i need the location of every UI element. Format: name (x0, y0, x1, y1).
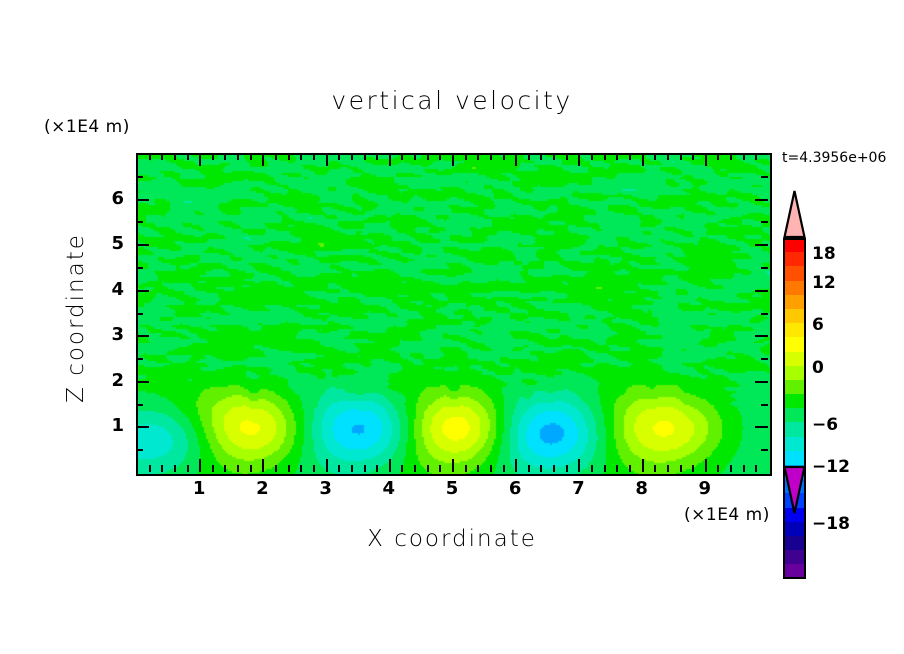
x-axis-minor-tick-top (338, 153, 340, 160)
x-axis-tick-label: 4 (369, 478, 409, 499)
x-axis-minor-tick-top (187, 153, 189, 160)
x-axis-tick-label: 7 (558, 478, 598, 499)
x-axis-minor-tick-top (351, 153, 353, 160)
colorbar-band (783, 281, 806, 295)
x-axis-minor-tick (313, 465, 315, 472)
x-axis-minor-tick (591, 465, 593, 472)
y-axis-units-label: (×1E4 m) (44, 117, 130, 137)
colorbar-band (783, 422, 806, 436)
x-axis-major-tick-top (326, 153, 328, 166)
y-axis-minor-tick-right (761, 176, 768, 178)
x-axis-minor-tick-top (224, 153, 226, 160)
x-axis-minor-tick (149, 465, 151, 472)
x-axis-minor-tick-top (364, 153, 366, 160)
x-axis-minor-tick (187, 465, 189, 472)
x-axis-tick-label: 9 (685, 478, 725, 499)
colorbar-band (783, 380, 806, 394)
y-axis-major-tick (136, 381, 149, 383)
x-axis-minor-tick-top (161, 153, 163, 160)
x-axis-minor-tick-top (288, 153, 290, 160)
colorbar-band (783, 252, 806, 266)
x-axis-minor-tick (667, 465, 669, 472)
colorbar-tick-label: −6 (812, 415, 838, 435)
x-axis-minor-tick (717, 465, 719, 472)
x-axis-minor-tick (730, 465, 732, 472)
x-axis-minor-tick-top (477, 153, 479, 160)
x-axis-major-tick (642, 459, 644, 472)
y-axis-minor-tick-right (761, 449, 768, 451)
x-axis-minor-tick (528, 465, 530, 472)
y-axis-major-tick-right (755, 381, 768, 383)
x-axis-major-tick (389, 459, 391, 472)
y-axis-minor-tick (136, 176, 143, 178)
y-axis-minor-tick (136, 221, 143, 223)
colorbar-top-arrow-cap (783, 189, 806, 239)
contour-plot-area (136, 153, 772, 476)
x-axis-minor-tick-top (414, 153, 416, 160)
colorbar-band (783, 323, 806, 337)
y-axis-tick-label: 5 (84, 233, 124, 254)
x-axis-minor-tick-top (250, 153, 252, 160)
x-axis-minor-tick-top (616, 153, 618, 160)
y-axis-minor-tick-right (761, 358, 768, 360)
colorbar-band (783, 451, 806, 465)
y-axis-minor-tick-right (761, 267, 768, 269)
y-axis-tick-label: 1 (84, 415, 124, 436)
colorbar-band (783, 266, 806, 280)
x-axis-minor-tick (161, 465, 163, 472)
y-axis-minor-tick-right (761, 313, 768, 315)
y-axis-major-tick-right (755, 335, 768, 337)
x-axis-minor-tick-top (313, 153, 315, 160)
x-axis-tick-label: 6 (495, 478, 535, 499)
x-axis-major-tick-top (199, 153, 201, 166)
x-axis-major-tick-top (515, 153, 517, 166)
colorbar-band (783, 337, 806, 351)
x-axis-minor-tick (427, 465, 429, 472)
simulation-timestamp: t=4.3956e+06 (782, 150, 886, 166)
x-axis-major-tick-top (452, 153, 454, 166)
x-axis-minor-tick-top (680, 153, 682, 160)
x-axis-minor-tick (364, 465, 366, 472)
x-axis-tick-label: 8 (622, 478, 662, 499)
x-axis-minor-tick-top (604, 153, 606, 160)
x-axis-minor-tick-top (237, 153, 239, 160)
x-axis-major-tick-top (705, 153, 707, 166)
x-axis-units-label: (×1E4 m) (684, 505, 770, 525)
x-axis-major-tick-top (578, 153, 580, 166)
x-axis-minor-tick (338, 465, 340, 472)
colorbar-band (783, 309, 806, 323)
colorbar-band (783, 522, 806, 536)
colorbar-band (783, 437, 806, 451)
x-axis-major-tick (578, 459, 580, 472)
x-axis-minor-tick-top (553, 153, 555, 160)
colorbar-band (783, 394, 806, 408)
y-axis-major-tick (136, 199, 149, 201)
x-axis-minor-tick-top (692, 153, 694, 160)
colorbar-tick-label: −12 (812, 457, 850, 477)
x-axis-major-tick (705, 459, 707, 472)
x-axis-minor-tick-top (717, 153, 719, 160)
x-axis-minor-tick (439, 465, 441, 472)
colorbar-band (783, 366, 806, 380)
x-axis-minor-tick-top (275, 153, 277, 160)
x-axis-minor-tick (250, 465, 252, 472)
x-axis-minor-tick-top (730, 153, 732, 160)
x-axis-minor-tick (743, 465, 745, 472)
x-axis-minor-tick (237, 465, 239, 472)
x-axis-major-tick (199, 459, 201, 472)
x-axis-minor-tick (553, 465, 555, 472)
colorbar-band (783, 238, 806, 252)
colorbar-band (783, 550, 806, 564)
x-axis-minor-tick (300, 465, 302, 472)
colorbar-tick-label: 0 (812, 358, 824, 378)
y-axis-major-tick (136, 335, 149, 337)
x-axis-minor-tick (680, 465, 682, 472)
x-axis-minor-tick-top (528, 153, 530, 160)
colorbar (783, 238, 806, 579)
x-axis-major-tick-top (642, 153, 644, 166)
x-axis-minor-tick (503, 465, 505, 472)
x-axis-minor-tick-top (755, 153, 757, 160)
colorbar-band (783, 564, 806, 578)
x-axis-minor-tick-top (540, 153, 542, 160)
y-axis-major-tick-right (755, 199, 768, 201)
colorbar-tick-label: 18 (812, 244, 836, 264)
y-axis-major-tick (136, 244, 149, 246)
x-axis-tick-label: 3 (306, 478, 346, 499)
y-axis-tick-label: 3 (84, 324, 124, 345)
x-axis-minor-tick-top (300, 153, 302, 160)
x-axis-minor-tick (224, 465, 226, 472)
x-axis-minor-tick (401, 465, 403, 472)
y-axis-major-tick (136, 426, 149, 428)
x-axis-minor-tick-top (629, 153, 631, 160)
colorbar-tick-label: 12 (812, 273, 836, 293)
y-axis-tick-label: 2 (84, 370, 124, 391)
x-axis-minor-tick (477, 465, 479, 472)
y-axis-major-tick-right (755, 244, 768, 246)
y-axis-major-tick (136, 290, 149, 292)
x-axis-minor-tick (376, 465, 378, 472)
x-axis-tick-label: 5 (432, 478, 472, 499)
y-axis-minor-tick-right (761, 404, 768, 406)
x-axis-minor-tick-top (149, 153, 151, 160)
x-axis-minor-tick-top (439, 153, 441, 160)
y-axis-minor-tick (136, 267, 143, 269)
x-axis-minor-tick (755, 465, 757, 472)
y-axis-tick-label: 4 (84, 279, 124, 300)
colorbar-band (783, 352, 806, 366)
x-axis-minor-tick-top (174, 153, 176, 160)
y-axis-minor-tick (136, 313, 143, 315)
x-axis-minor-tick-top (427, 153, 429, 160)
x-axis-minor-tick-top (743, 153, 745, 160)
x-axis-minor-tick-top (591, 153, 593, 160)
x-axis-minor-tick (212, 465, 214, 472)
x-axis-minor-tick-top (465, 153, 467, 160)
x-axis-major-tick (452, 459, 454, 472)
x-axis-minor-tick (616, 465, 618, 472)
x-axis-minor-tick (540, 465, 542, 472)
colorbar-band (783, 295, 806, 309)
x-axis-major-tick-top (389, 153, 391, 166)
x-axis-tick-label: 2 (242, 478, 282, 499)
x-axis-major-tick-top (262, 153, 264, 166)
y-axis-minor-tick (136, 449, 143, 451)
x-axis-minor-tick (654, 465, 656, 472)
x-axis-minor-tick-top (212, 153, 214, 160)
page-title: vertical velocity (0, 86, 904, 115)
y-axis-minor-tick (136, 358, 143, 360)
x-axis-minor-tick (414, 465, 416, 472)
x-axis-major-tick (326, 459, 328, 472)
x-axis-minor-tick-top (401, 153, 403, 160)
x-axis-minor-tick (629, 465, 631, 472)
x-axis-minor-tick-top (654, 153, 656, 160)
contour-field-canvas (138, 155, 770, 474)
x-axis-minor-tick (174, 465, 176, 472)
x-axis-minor-tick (275, 465, 277, 472)
x-axis-minor-tick (692, 465, 694, 472)
x-axis-minor-tick (566, 465, 568, 472)
x-axis-major-tick (262, 459, 264, 472)
x-axis-minor-tick-top (490, 153, 492, 160)
colorbar-band (783, 408, 806, 422)
x-axis-major-tick (515, 459, 517, 472)
y-axis-tick-label: 6 (84, 188, 124, 209)
x-axis-minor-tick-top (503, 153, 505, 160)
x-axis-minor-tick (604, 465, 606, 472)
colorbar-tick-label: 6 (812, 315, 824, 335)
colorbar-tick-label: −18 (812, 514, 850, 534)
colorbar-band (783, 536, 806, 550)
x-axis-minor-tick (490, 465, 492, 472)
x-axis-tick-label: 1 (179, 478, 219, 499)
colorbar-bottom-arrow-cap (783, 465, 806, 515)
x-axis-minor-tick (351, 465, 353, 472)
x-axis-minor-tick-top (376, 153, 378, 160)
x-axis-minor-tick-top (566, 153, 568, 160)
y-axis-major-tick-right (755, 426, 768, 428)
x-axis-title: X coordinate (0, 526, 904, 552)
y-axis-minor-tick-right (761, 221, 768, 223)
y-axis-major-tick-right (755, 290, 768, 292)
x-axis-minor-tick (465, 465, 467, 472)
y-axis-minor-tick (136, 404, 143, 406)
x-axis-minor-tick (288, 465, 290, 472)
x-axis-minor-tick-top (667, 153, 669, 160)
